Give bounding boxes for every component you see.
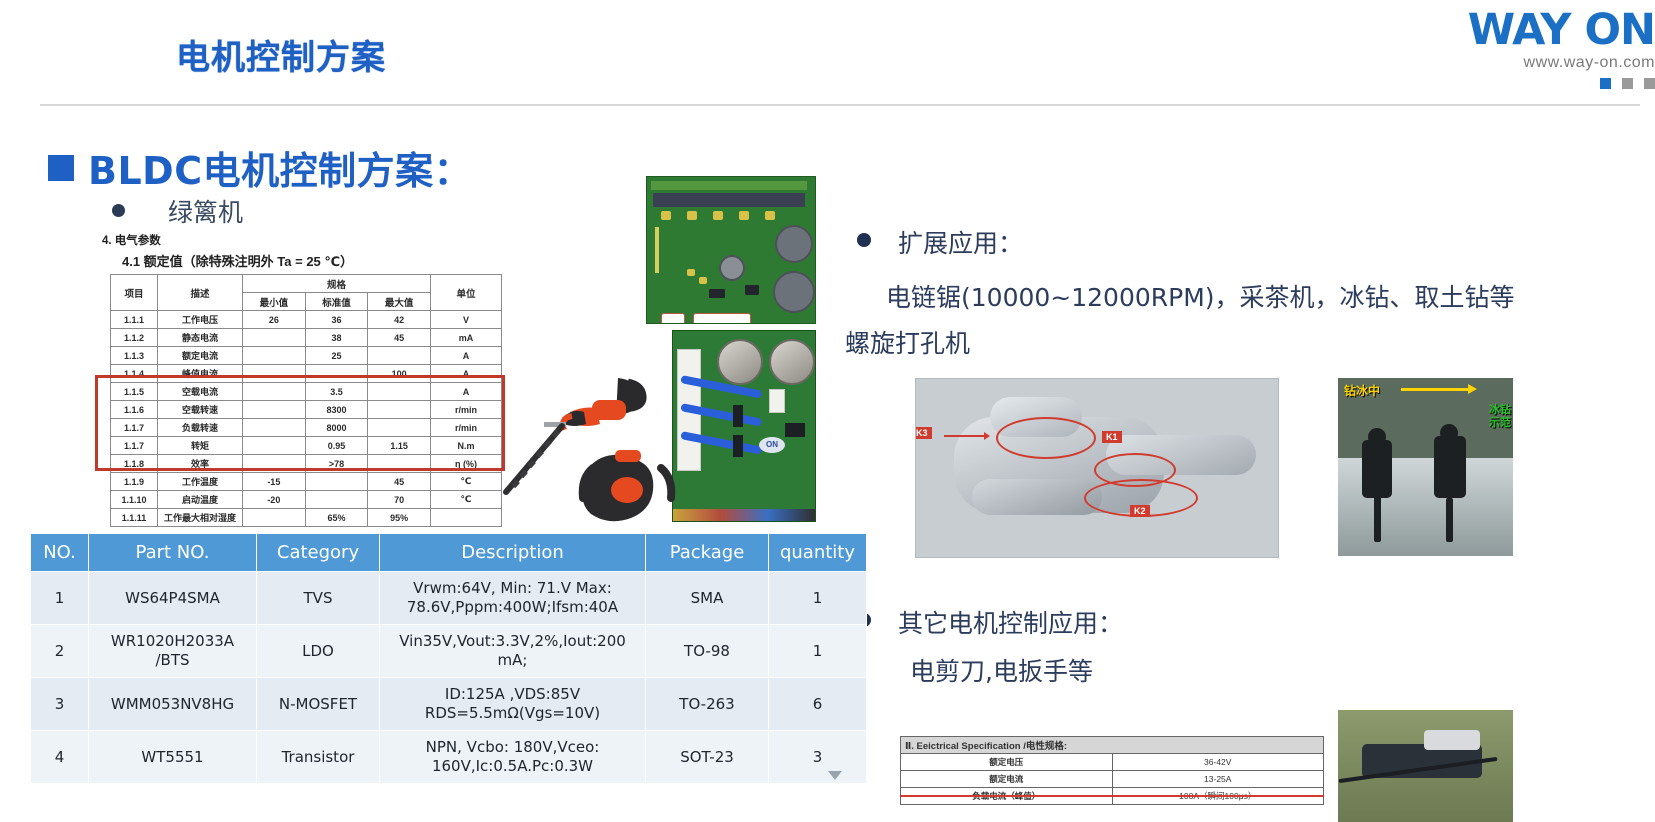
- spec-cell-max: 70: [368, 491, 431, 509]
- spec-row: 1.1.10启动温度-2070℃: [111, 491, 502, 509]
- cell-package: TO-263: [646, 678, 769, 731]
- table-row[interactable]: 3WMM053NV8HGN-MOSFETID:125A ,VDS:85V RDS…: [31, 678, 867, 731]
- chainsaw-tag-k3: K3: [915, 427, 932, 439]
- spec-row: 1.1.11工作最大相对湿度65%95%: [111, 509, 502, 527]
- spec-row: 1.1.8效率>78η (%): [111, 455, 502, 473]
- spec-cell-max: 95%: [368, 509, 431, 527]
- spec-cell-min: [243, 329, 306, 347]
- spec-cell-min: -20: [243, 491, 306, 509]
- spec-cell-no: 1.1.3: [111, 347, 158, 365]
- cell-description: Vin35V,Vout:3.3V,2%,Iout:200 mA;: [380, 625, 646, 678]
- col-description[interactable]: Description: [380, 534, 646, 572]
- spec-cell-typ: 0.95: [305, 437, 368, 455]
- table-header-row: NO. Part NO. Category Description Packag…: [31, 534, 867, 572]
- cell-no: 3: [31, 678, 89, 731]
- spec-cell-no: 1.1.10: [111, 491, 158, 509]
- spec-cell-max: [368, 455, 431, 473]
- chainsaw-tag-k1: K1: [1102, 431, 1122, 443]
- spec-cell-max: 42: [368, 311, 431, 329]
- spec-cell-unit: ℃: [431, 473, 502, 491]
- spec-row: 1.1.1工作电压263642V: [111, 311, 502, 329]
- controller-pcb-wired-photo: ON: [672, 330, 816, 522]
- cell-category: N-MOSFET: [257, 678, 380, 731]
- cell-quantity: 1: [769, 625, 867, 678]
- spec-col-spec: 规格: [243, 275, 431, 293]
- section-subheading: 绿篱机: [168, 193, 243, 229]
- cell-no: 2: [31, 625, 89, 678]
- electric-chainsaw-diagram: K3 K1 K2: [915, 378, 1279, 558]
- spec-cell-max: 100: [368, 365, 431, 383]
- ice-drill-photo: 钻冰中 冰钻 示范: [1338, 378, 1513, 556]
- spec-cell-no: 1.1.9: [111, 473, 158, 491]
- spec-row: 1.1.3额定电流25A: [111, 347, 502, 365]
- spec-row: 1.1.6空载转速8300r/min: [111, 401, 502, 419]
- spec-row: 1.1.4峰值电流100A: [111, 365, 502, 383]
- cell-description: NPN, Vcbo: 180V,Vceo: 160V,Ic:0.5A.Pc:0.…: [380, 731, 646, 784]
- cell-quantity: 6: [769, 678, 867, 731]
- bom-parts-table: NO. Part NO. Category Description Packag…: [30, 533, 867, 784]
- ice-green-caption: 冰钻 示范: [1489, 404, 1511, 430]
- other-applications-line1: 电剪刀,电扳手等: [910, 650, 1093, 694]
- spec-cell-min: [243, 365, 306, 383]
- spec-section-number: 4. 电气参数: [102, 232, 500, 248]
- elec-spec-row: 额定电压36-42V: [901, 754, 1324, 771]
- spec-cell-desc: 效率: [158, 455, 243, 473]
- spec-cell-min: 26: [243, 311, 306, 329]
- spec-cell-min: [243, 437, 306, 455]
- ice-banner: 钻冰中: [1338, 382, 1513, 402]
- col-category[interactable]: Category: [257, 534, 380, 572]
- spec-cell-no: 1.1.6: [111, 401, 158, 419]
- brand-logo: WAY ON www.way-on.com: [1468, 8, 1655, 94]
- right-bullet-1-dot: [857, 233, 871, 247]
- elec-spec-title: Ⅱ. Eeictrical Specification /电性规格:: [901, 737, 1324, 754]
- spec-cell-unit: r/min: [431, 401, 502, 419]
- spec-cell-no: 1.1.7: [111, 419, 158, 437]
- pcb-callout-power: [661, 313, 685, 324]
- spec-section-subtitle: 4.1 额定值（除特殊注明外 Ta = 25 ℃）: [122, 251, 500, 270]
- spec-cell-max: [368, 383, 431, 401]
- spec-col-typ: 标准值: [305, 293, 368, 311]
- spec-cell-desc: 空载转速: [158, 401, 243, 419]
- cell-quantity: 1: [769, 572, 867, 625]
- spec-cell-no: 1.1.5: [111, 383, 158, 401]
- elec-spec-label: 额定电流: [901, 771, 1113, 788]
- elec-spec-label: 额定电压: [901, 754, 1113, 771]
- spec-cell-desc: 工作最大相对湿度: [158, 509, 243, 527]
- spec-cell-desc: 转矩: [158, 437, 243, 455]
- cell-description: Vrwm:64V, Min: 71.V Max: 78.6V,Pppm:400W…: [380, 572, 646, 625]
- spec-cell-unit: [431, 509, 502, 527]
- spec-col-item: 项目: [111, 275, 158, 311]
- table-row[interactable]: 2WR1020H2033A /BTSLDOVin35V,Vout:3.3V,2%…: [31, 625, 867, 678]
- elec-spec-row: 额定电流13-25A: [901, 771, 1324, 788]
- subheading-dot-bullet: [112, 204, 125, 217]
- cell-part-no: WR1020H2033A /BTS: [89, 625, 257, 678]
- spec-cell-typ: 8300: [305, 401, 368, 419]
- spec-cell-typ: 25: [305, 347, 368, 365]
- chainsaw-tag-k2: K2: [1130, 505, 1150, 517]
- elec-spec-value: 36-42V: [1112, 754, 1324, 771]
- spec-cell-no: 1.1.4: [111, 365, 158, 383]
- spec-cell-unit: r/min: [431, 419, 502, 437]
- spec-row: 1.1.5空载电流3.5A: [111, 383, 502, 401]
- spec-cell-no: 1.1.11: [111, 509, 158, 527]
- spec-cell-unit: A: [431, 365, 502, 383]
- spec-cell-desc: 空载电流: [158, 383, 243, 401]
- elec-spec-value: 13-25A: [1112, 771, 1324, 788]
- spec-col-desc: 描述: [158, 275, 243, 311]
- spec-cell-typ: 3.5: [305, 383, 368, 401]
- col-quantity[interactable]: quantity: [769, 534, 867, 572]
- cell-description: ID:125A ,VDS:85V RDS=5.5mΩ(Vgs=10V): [380, 678, 646, 731]
- spec-cell-min: [243, 419, 306, 437]
- spec-cell-typ: >78: [305, 455, 368, 473]
- spec-cell-unit: mA: [431, 329, 502, 347]
- spec-cell-max: 45: [368, 329, 431, 347]
- spec-cell-unit: η (%): [431, 455, 502, 473]
- cell-no: 4: [31, 731, 89, 784]
- brand-squares: [1468, 76, 1655, 94]
- pcb-callout-led-control: [693, 313, 751, 324]
- spec-row: 1.1.9工作温度-1545℃: [111, 473, 502, 491]
- spec-cell-desc: 额定电流: [158, 347, 243, 365]
- spec-cell-min: [243, 509, 306, 527]
- spec-cell-no: 1.1.7: [111, 437, 158, 455]
- spec-cell-no: 1.1.1: [111, 311, 158, 329]
- spec-cell-max: 1.15: [368, 437, 431, 455]
- spec-cell-desc: 工作温度: [158, 473, 243, 491]
- cell-part-no: WMM053NV8HG: [89, 678, 257, 731]
- spec-cell-desc: 负载转速: [158, 419, 243, 437]
- other-applications-label: 其它电机控制应用：: [898, 604, 1123, 640]
- spec-cell-min: [243, 455, 306, 473]
- spec-cell-unit: A: [431, 383, 502, 401]
- brand-wordmark: WAY ON: [1468, 8, 1655, 52]
- spec-cell-desc: 启动温度: [158, 491, 243, 509]
- page-title: 电机控制方案: [176, 30, 386, 79]
- spec-cell-unit: N.m: [431, 437, 502, 455]
- field-tool-photo: [1338, 710, 1513, 822]
- cell-part-no: WS64P4SMA: [89, 572, 257, 625]
- heading-square-bullet: [48, 155, 74, 181]
- brand-url: www.way-on.com: [1468, 54, 1655, 72]
- spec-cell-unit: V: [431, 311, 502, 329]
- spec-cell-typ: [305, 365, 368, 383]
- col-package[interactable]: Package: [646, 534, 769, 572]
- cell-package: TO-98: [646, 625, 769, 678]
- spec-col-unit: 单位: [431, 275, 502, 311]
- section-heading: BLDC电机控制方案：: [88, 140, 472, 195]
- spec-cell-typ: 38: [305, 329, 368, 347]
- bom-parts-table-wrap: NO. Part NO. Category Description Packag…: [30, 533, 848, 784]
- cell-part-no: WT5551: [89, 731, 257, 784]
- expanded-applications-label: 扩展应用：: [898, 224, 1023, 260]
- controller-pcb-top-photo: [646, 176, 816, 324]
- spec-cell-typ: [305, 491, 368, 509]
- spec-cell-max: [368, 401, 431, 419]
- spec-cell-min: -15: [243, 473, 306, 491]
- spec-row: 1.1.7负载转速8000r/min: [111, 419, 502, 437]
- spec-cell-typ: [305, 473, 368, 491]
- spec-col-min: 最小值: [243, 293, 306, 311]
- spec-cell-typ: 36: [305, 311, 368, 329]
- backpack-battery-photo: [575, 450, 685, 530]
- cell-quantity: 3: [769, 731, 867, 784]
- col-no[interactable]: NO.: [31, 534, 89, 572]
- expanded-applications-line2: 螺旋打孔机: [845, 322, 970, 366]
- spec-cell-max: [368, 419, 431, 437]
- spec-cell-min: [243, 347, 306, 365]
- spec-cell-no: 1.1.2: [111, 329, 158, 347]
- spec-row: 1.1.2静态电流3845mA: [111, 329, 502, 347]
- cell-no: 1: [31, 572, 89, 625]
- scroll-down-arrow-icon[interactable]: [828, 771, 842, 780]
- slide-header: 电机控制方案 WAY ON www.way-on.com: [0, 0, 1655, 108]
- cell-category: TVS: [257, 572, 380, 625]
- cell-category: Transistor: [257, 731, 380, 784]
- table-row[interactable]: 4WT5551TransistorNPN, Vcbo: 180V,Vceo: 1…: [31, 731, 867, 784]
- spec-cell-desc: 峰值电流: [158, 365, 243, 383]
- spec-table: 项目 描述 规格 单位 最小值 标准值 最大值 1.1.1工作电压263642V…: [110, 274, 502, 527]
- spec-cell-min: [243, 401, 306, 419]
- spec-col-max: 最大值: [368, 293, 431, 311]
- header-divider: [40, 104, 1640, 106]
- electrical-parameter-doc: 4. 电气参数 4.1 额定值（除特殊注明外 Ta = 25 ℃） 项目 描述 …: [100, 232, 500, 532]
- chainsaw-highlight-k3: [996, 417, 1096, 459]
- spec-cell-max: 45: [368, 473, 431, 491]
- col-part-no[interactable]: Part NO.: [89, 534, 257, 572]
- elec-spec-highlight-line: [900, 795, 1324, 797]
- spec-cell-unit: ℃: [431, 491, 502, 509]
- spec-cell-desc: 工作电压: [158, 311, 243, 329]
- expanded-applications-line1: 电链锯(10000~12000RPM)，采茶机，冰钻、取土钻等: [886, 276, 1515, 320]
- spec-cell-desc: 静态电流: [158, 329, 243, 347]
- cell-category: LDO: [257, 625, 380, 678]
- table-row[interactable]: 1WS64P4SMATVSVrwm:64V, Min: 71.V Max: 78…: [31, 572, 867, 625]
- cell-package: SOT-23: [646, 731, 769, 784]
- spec-cell-max: [368, 347, 431, 365]
- spec-cell-no: 1.1.8: [111, 455, 158, 473]
- spec-cell-min: [243, 383, 306, 401]
- cell-package: SMA: [646, 572, 769, 625]
- spec-cell-typ: 65%: [305, 509, 368, 527]
- spec-row: 1.1.7转矩0.951.15N.m: [111, 437, 502, 455]
- spec-cell-unit: A: [431, 347, 502, 365]
- spec-cell-typ: 8000: [305, 419, 368, 437]
